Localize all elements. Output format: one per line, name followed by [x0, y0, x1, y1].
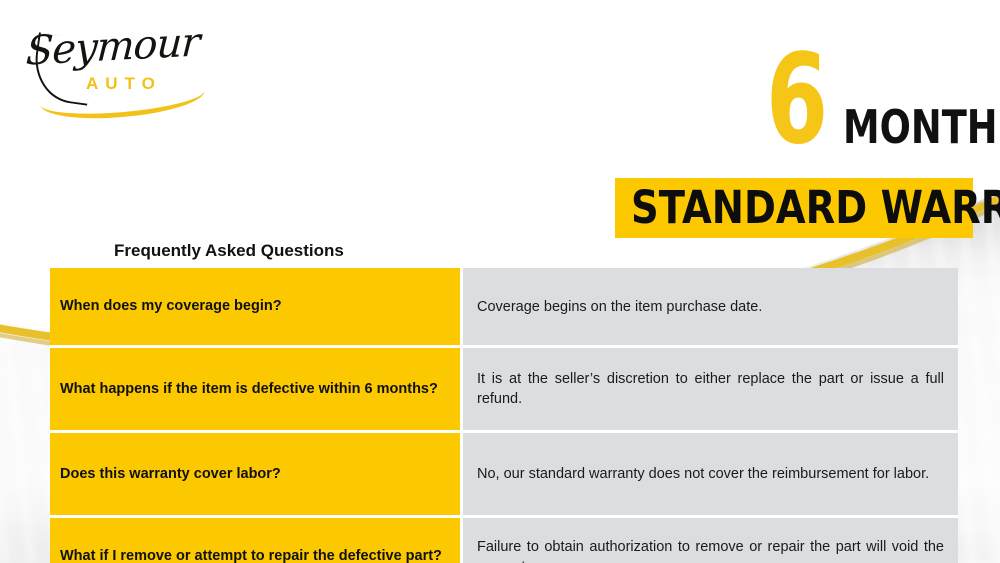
faq-table: When does my coverage begin? Coverage be…	[50, 268, 958, 563]
faq-answer-cell: Failure to obtain authorization to remov…	[463, 518, 958, 563]
table-row: Does this warranty cover labor? No, our …	[50, 433, 958, 518]
table-row: What if I remove or attempt to repair th…	[50, 518, 958, 563]
faq-question-cell: What if I remove or attempt to repair th…	[50, 518, 463, 563]
faq-question-cell: What happens if the item is defective wi…	[50, 348, 463, 433]
faq-answer-cell: It is at the seller’s discretion to eith…	[463, 348, 958, 433]
warranty-duration-number: 6	[766, 46, 827, 154]
logo-subtitle: AUTO	[86, 74, 162, 94]
logo-wordmark: Seymour	[25, 19, 201, 74]
seymour-auto-logo: Seymour AUTO	[18, 22, 208, 108]
table-row: What happens if the item is defective wi…	[50, 348, 958, 433]
warranty-duration-unit: MONTH	[843, 104, 998, 150]
warranty-slide: Seymour AUTO 6 MONTH STANDARD WARRANTY F…	[0, 0, 1000, 563]
faq-heading: Frequently Asked Questions	[114, 241, 344, 261]
faq-question-cell: When does my coverage begin?	[50, 268, 463, 348]
table-row: When does my coverage begin? Coverage be…	[50, 268, 958, 348]
faq-answer-cell: Coverage begins on the item purchase dat…	[463, 268, 958, 348]
standard-warranty-banner-text: STANDARD WARRANTY	[631, 185, 1000, 230]
faq-answer-cell: No, our standard warranty does not cover…	[463, 433, 958, 518]
faq-question-cell: Does this warranty cover labor?	[50, 433, 463, 518]
standard-warranty-banner: STANDARD WARRANTY	[615, 178, 973, 238]
